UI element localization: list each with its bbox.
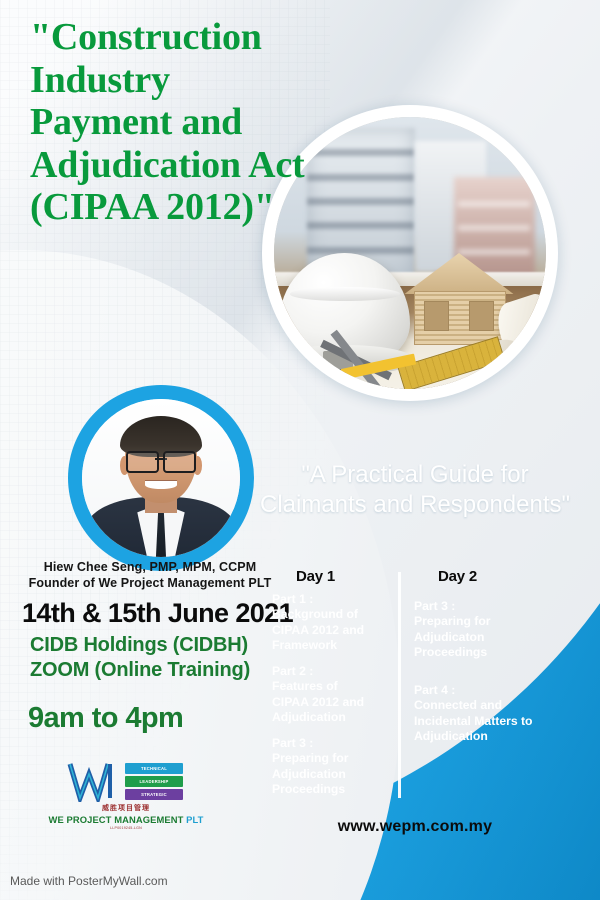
hero-construction-image — [274, 117, 546, 389]
avatar-smile — [145, 481, 177, 489]
hero-house-window-right — [469, 301, 494, 331]
we-letter-icon — [67, 762, 123, 802]
logo-company-text: WE PROJECT MANAGEMENT — [49, 814, 184, 825]
company-logo: TECHNICAL LEADERSHIP STRATEGIC 威胜项目管理 WE… — [46, 762, 206, 824]
agenda-column-day-2: Day 2 Part 3 : Preparing for Adjudicaton… — [414, 568, 586, 767]
speaker-role: Founder of We Project Management PLT — [0, 576, 300, 590]
agenda-section: Day 1 Part 1 : Background of CIPAA 2012 … — [262, 568, 592, 800]
day-1-part-2: Part 2 : Features of CIPAA 2012 and Adju… — [272, 664, 396, 726]
day-1-heading: Day 1 — [272, 568, 396, 585]
day-2-heading: Day 2 — [414, 568, 586, 585]
event-time: 9am to 4pm — [28, 702, 183, 735]
page-subtitle: "A Practical Guide for Claimants and Res… — [250, 460, 580, 520]
logo-company-suffix: PLT — [186, 814, 203, 825]
logo-pillar-bars: TECHNICAL LEADERSHIP STRATEGIC — [125, 763, 183, 802]
logo-registration: LLP0019245-LGN — [46, 826, 206, 830]
day-1-part-3: Part 3 : Preparing for Adjudication Proc… — [272, 736, 396, 798]
website-url[interactable]: www.wepm.com.my — [250, 818, 580, 836]
speaker-avatar-ring — [68, 385, 254, 571]
speaker-name: Hiew Chee Seng, PMP, MPM, CCPM — [0, 560, 300, 574]
logo-company-name: WE PROJECT MANAGEMENT PLT — [46, 814, 206, 825]
hero-house-window-left — [424, 301, 449, 331]
poster-canvas: "Construction Industry Payment and Adjud… — [0, 0, 600, 900]
hero-image-ring — [262, 105, 558, 401]
glasses-icon — [126, 451, 196, 468]
hero-house-model — [410, 253, 508, 343]
day-2-part-2: Part 4 : Connected and Incidental Matter… — [414, 683, 586, 745]
logo-chinese-name: 威胜项目管理 — [46, 803, 206, 813]
agenda-divider — [398, 572, 401, 798]
logo-bar-strategic: STRATEGIC — [125, 789, 183, 800]
hero-house-roof — [404, 253, 514, 294]
postermywall-watermark: Made with PosterMyWall.com — [10, 874, 168, 888]
day-2-part-1: Part 3 : Preparing for Adjudicaton Proce… — [414, 599, 586, 661]
event-venue-primary: CIDB Holdings (CIDBH) — [30, 634, 248, 657]
agenda-column-day-1: Day 1 Part 1 : Background of CIPAA 2012 … — [272, 568, 396, 808]
day-1-part-1: Part 1 : Background of CIPAA 2012 and Fr… — [272, 592, 396, 654]
logo-bar-technical: TECHNICAL — [125, 763, 183, 774]
event-date: 14th & 15th June 2021 — [22, 598, 293, 629]
page-title: "Construction Industry Payment and Adjud… — [30, 16, 305, 229]
logo-bar-leadership: LEADERSHIP — [125, 776, 183, 787]
hero-house-body — [414, 291, 506, 345]
avatar — [82, 399, 240, 557]
logo-mark: TECHNICAL LEADERSHIP STRATEGIC — [67, 762, 185, 802]
event-venue-secondary: ZOOM (Online Training) — [30, 659, 250, 682]
